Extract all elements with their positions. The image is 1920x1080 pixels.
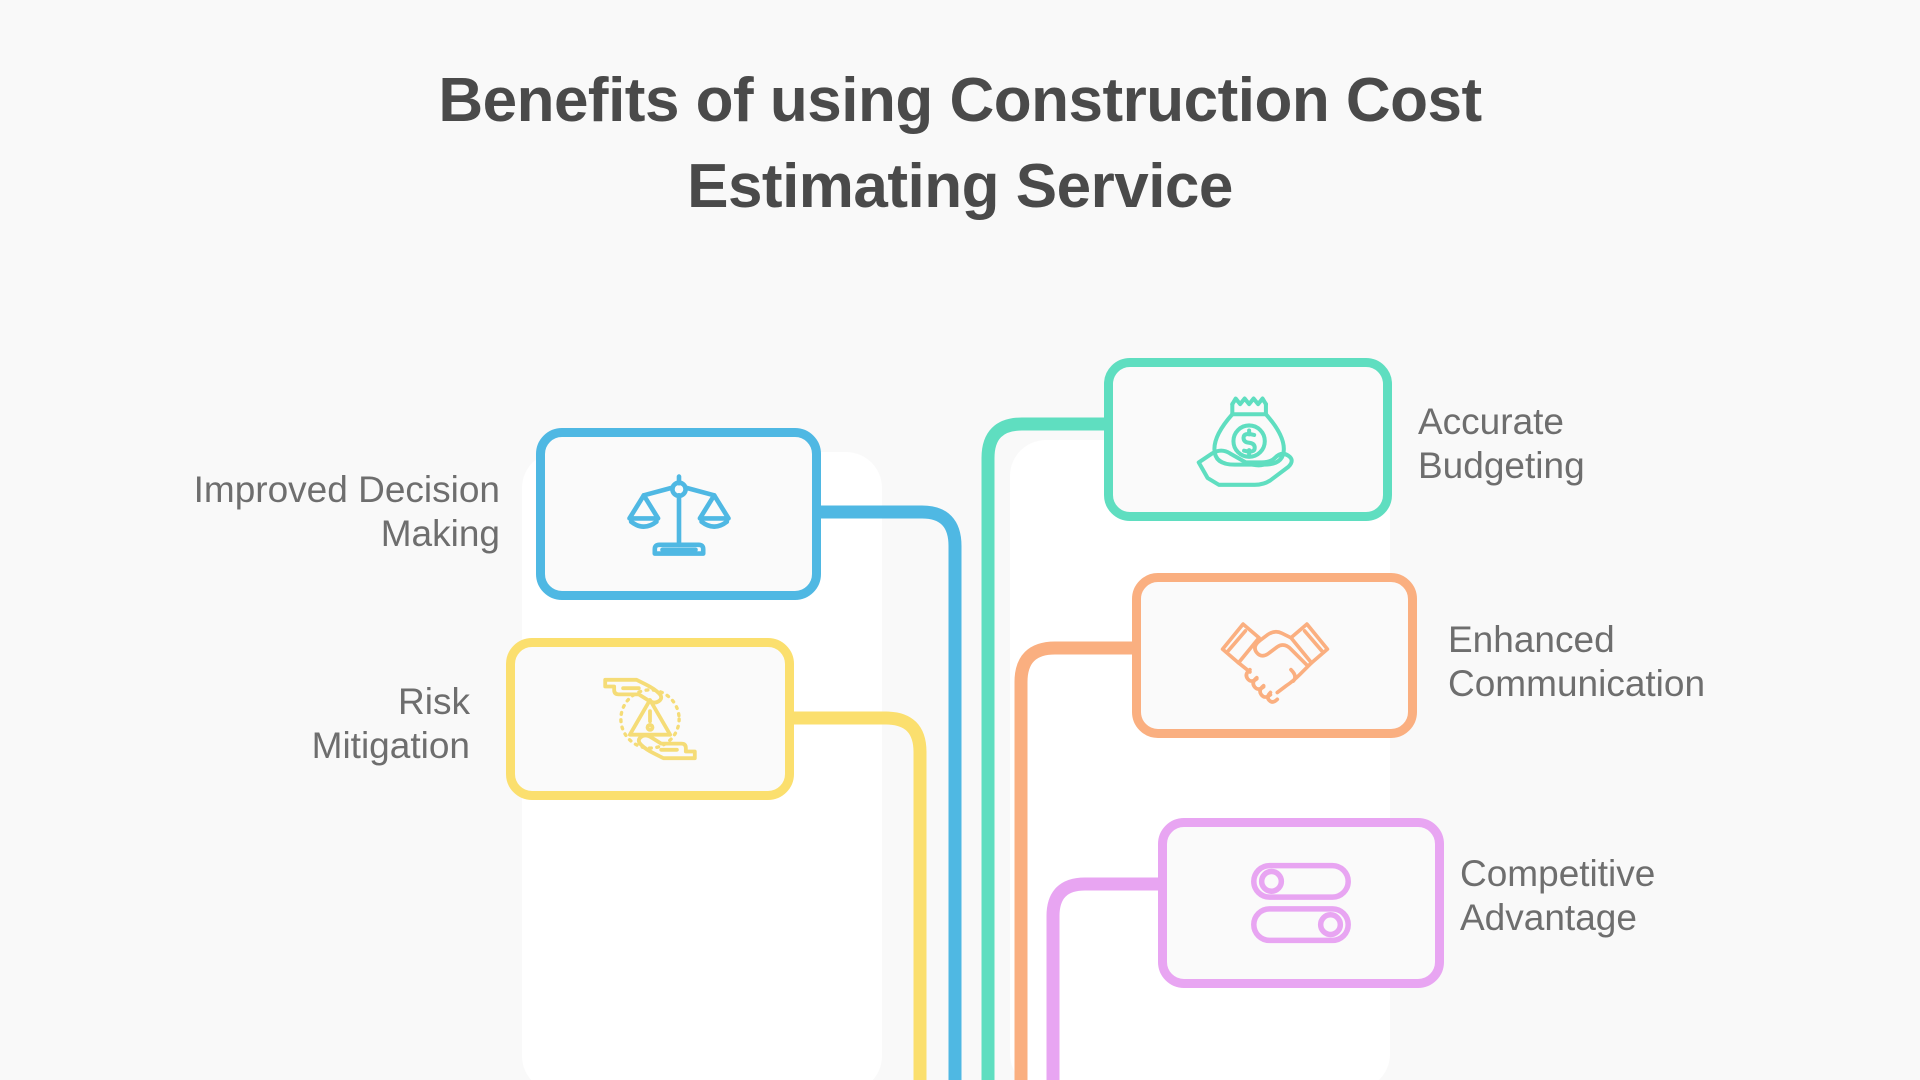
benefit-label-risk-mitigation: Risk Mitigation: [130, 680, 470, 767]
page-title: Benefits of using Construction CostEstim…: [200, 58, 1720, 229]
toggle-switches-icon: [1242, 857, 1360, 949]
benefit-card-risk-mitigation[interactable]: [506, 638, 794, 800]
page-title-line-2: Estimating Service: [687, 152, 1233, 221]
benefit-label-enhanced-communication: Enhanced Communication: [1448, 618, 1888, 705]
page-title-line-1: Benefits of using Construction Cost: [438, 66, 1481, 135]
benefit-card-improved-decision-making[interactable]: [536, 428, 821, 600]
hand-holding-money-bag-icon: [1192, 384, 1304, 496]
balance-scales-icon: [624, 459, 734, 569]
benefit-label-competitive-advantage: Competitive Advantage: [1460, 852, 1880, 939]
benefit-label-accurate-budgeting: Accurate Budgeting: [1418, 400, 1838, 487]
benefit-card-accurate-budgeting[interactable]: [1104, 358, 1392, 521]
benefit-label-improved-decision-making: Improved Decision Making: [110, 468, 500, 555]
infographic-canvas: Benefits of using Construction CostEstim…: [0, 0, 1920, 1080]
benefit-card-enhanced-communication[interactable]: [1132, 573, 1417, 738]
benefit-card-competitive-advantage[interactable]: [1158, 818, 1444, 988]
hands-protecting-warning-icon: [594, 663, 706, 775]
handshake-icon: [1218, 599, 1332, 713]
